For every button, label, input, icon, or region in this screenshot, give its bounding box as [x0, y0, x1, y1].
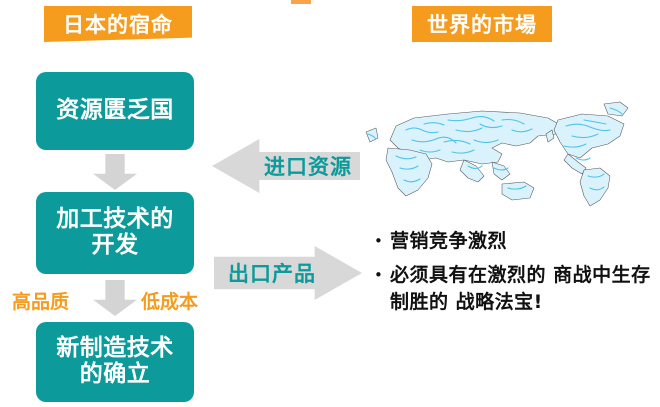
process-box-3: 新制造技术的确立: [36, 322, 194, 402]
down-arrow-icon-1: [93, 154, 137, 190]
list-item: • 营销竞争激烈: [374, 228, 654, 255]
flow-arrow-import: 进口资源: [212, 139, 360, 193]
slide-canvas: 日本的宿命 世界的市場 资源匮乏国 加工技术的开发 高品质 低成本 新制造技术的…: [0, 0, 660, 407]
side-label-cost: 低成本: [141, 287, 198, 314]
world-map-image: [352, 96, 642, 208]
flow-arrow-import-label: 进口资源: [264, 151, 352, 181]
flow-arrow-export: 出口产品: [214, 246, 362, 300]
heading-banner-right: 世界的市場: [412, 6, 552, 42]
down-arrow-icon-2: [93, 280, 137, 316]
heading-banner-left: 日本的宿命: [44, 6, 192, 42]
side-label-quality: 高品质: [12, 287, 69, 314]
bullet-text: 必须具有在激烈的 商战中生存制胜的 战略法宝!: [390, 262, 654, 316]
process-box-1: 资源匮乏国: [36, 72, 194, 150]
process-box-2: 加工技术的开发: [36, 192, 194, 274]
bullet-list: • 营销竞争激烈 • 必须具有在激烈的 商战中生存制胜的 战略法宝!: [374, 228, 654, 323]
bullet-text: 营销竞争激烈: [390, 228, 507, 255]
flow-arrow-export-label: 出口产品: [228, 258, 316, 288]
bullet-dot-icon: •: [374, 262, 390, 289]
list-item: • 必须具有在激烈的 商战中生存制胜的 战略法宝!: [374, 262, 654, 316]
bullet-dot-icon: •: [374, 228, 390, 255]
banner-fragment: [291, 0, 311, 4]
